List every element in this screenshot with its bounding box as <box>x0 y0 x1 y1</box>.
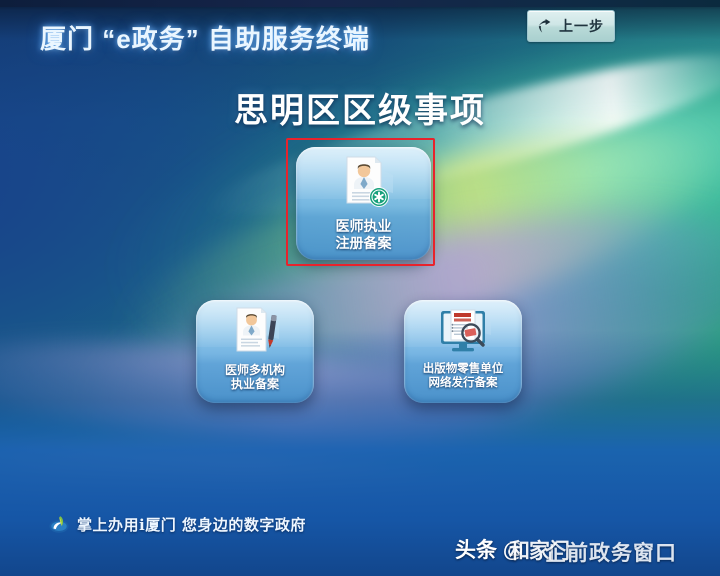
back-button[interactable]: 上一步 <box>527 10 615 42</box>
kiosk-screen: 厦门 “e政务” 自助服务终端 上一步 思明区区级事项 <box>0 0 720 576</box>
doctor-certificate-icon <box>296 147 431 217</box>
tile-label: 医师多机构 执业备案 <box>196 363 314 403</box>
tile-doctor-practice-registration[interactable]: 医师执业 注册备案 <box>296 147 431 260</box>
back-arrow-icon <box>538 19 555 34</box>
tile-label: 出版物零售单位 网络发行备案 <box>404 363 522 403</box>
tile-label-line1: 出版物零售单位 <box>404 363 522 377</box>
watermark-line-c: 企前政务窗口 <box>545 537 677 567</box>
footer-slogan: 掌上办用i厦门 您身边的数字政府 <box>77 514 306 535</box>
top-dark-bar <box>0 0 720 7</box>
watermark: 头条 @ 和家门 企前政务窗口 <box>455 534 720 568</box>
i-xiamen-swirl-logo <box>48 513 70 535</box>
tile-label-line1: 医师多机构 <box>196 363 314 377</box>
tile-label-line1: 医师执业 <box>296 218 431 235</box>
page-title: 思明区区级事项 <box>0 83 720 132</box>
tile-label-line2: 注册备案 <box>296 235 431 252</box>
tile-doctor-multi-institution[interactable]: 医师多机构 执业备案 <box>196 300 314 403</box>
app-title: 厦门 “e政务” 自助服务终端 <box>40 19 370 56</box>
monitor-magnifier-icon <box>404 300 522 362</box>
footer: 掌上办用i厦门 您身边的数字政府 <box>48 513 306 535</box>
tile-publication-retail-network[interactable]: 出版物零售单位 网络发行备案 <box>404 300 522 403</box>
tile-label-line2: 执业备案 <box>196 377 314 391</box>
document-pen-icon <box>196 300 314 362</box>
back-button-label: 上一步 <box>559 16 604 36</box>
tile-label: 医师执业 注册备案 <box>296 217 431 260</box>
tile-label-line2: 网络发行备案 <box>404 377 522 391</box>
